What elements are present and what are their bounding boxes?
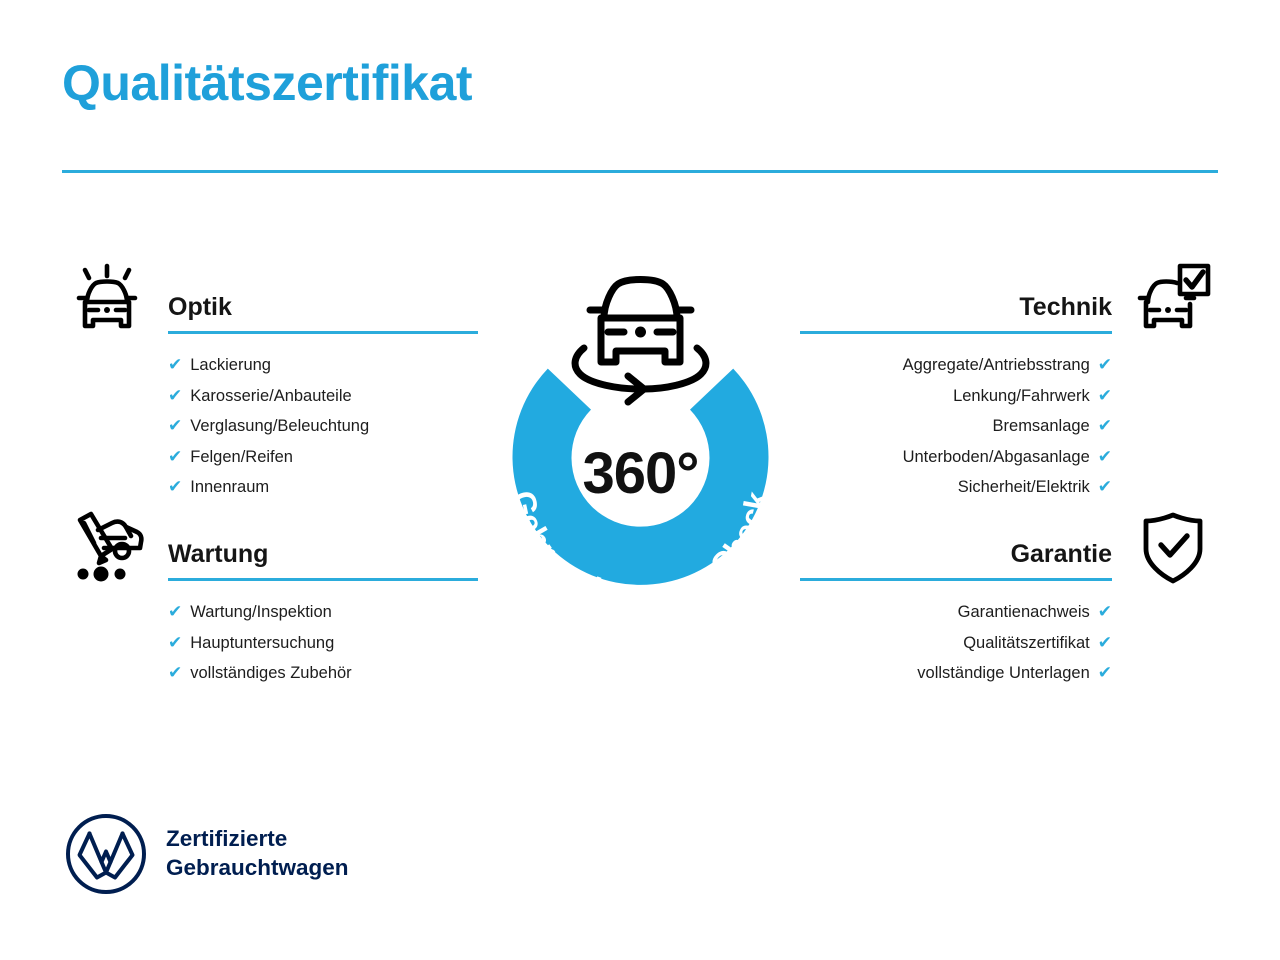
list-item-label: Felgen/Reifen (190, 442, 293, 473)
pencil-car-service-icon (64, 503, 150, 589)
list-item-label: Garantienachweis (958, 597, 1090, 628)
section-garantie-list: Garantienachweis✔ Qualitätszertifikat✔ v… (800, 597, 1220, 689)
car-rotate-360-icon (575, 280, 706, 403)
check-icon: ✔ (168, 356, 182, 373)
check-icon: ✔ (1098, 664, 1112, 681)
section-technik: Technik Aggregate/Antriebsstrang✔ Lenkun… (800, 258, 1220, 503)
check-icon: ✔ (168, 478, 182, 495)
section-technik-underline (800, 331, 1112, 334)
list-item: Bremsanlage✔ (800, 411, 1112, 442)
list-item: Aggregate/Antriebsstrang✔ (800, 350, 1112, 381)
page-title: Qualitätszertifikat (62, 56, 472, 111)
badge-number: 360° (468, 440, 813, 507)
section-wartung-underline (168, 578, 478, 581)
vw-certified-line1: Zertifizierte (166, 825, 349, 854)
list-item: Garantienachweis✔ (800, 597, 1112, 628)
shield-check-icon (1130, 503, 1216, 589)
list-item: ✔Verglasung/Beleuchtung (168, 411, 478, 442)
check-icon: ✔ (1098, 448, 1112, 465)
section-optik: Optik ✔Lackierung ✔Karosserie/Anbauteile… (58, 258, 478, 503)
list-item-label: Aggregate/Antriebsstrang (903, 350, 1090, 381)
section-optik-list: ✔Lackierung ✔Karosserie/Anbauteile ✔Verg… (58, 350, 478, 503)
list-item-label: Qualitätszertifikat (963, 628, 1090, 659)
section-optik-title: Optik (168, 293, 232, 322)
list-item-label: vollständiges Zubehör (190, 658, 351, 689)
list-item-label: vollständige Unterlagen (917, 658, 1089, 689)
check-icon: ✔ (168, 387, 182, 404)
list-item: ✔Karosserie/Anbauteile (168, 381, 478, 412)
section-garantie: Garantie Garantienachweis✔ Qualitätszert… (800, 505, 1220, 689)
check-icon: ✔ (1098, 478, 1112, 495)
list-item-label: Unterboden/Abgasanlage (903, 442, 1090, 473)
list-item-label: Hauptuntersuchung (190, 628, 334, 659)
list-item: ✔Wartung/Inspektion (168, 597, 478, 628)
list-item-label: Sicherheit/Elektrik (958, 472, 1090, 503)
badge-360-gebrauchtwagen-check: Gebrauchtwagen-Check 360° (468, 252, 813, 642)
check-icon: ✔ (168, 448, 182, 465)
check-icon: ✔ (1098, 356, 1112, 373)
car-front-shine-icon (64, 256, 150, 342)
list-item-label: Lenkung/Fahrwerk (953, 381, 1090, 412)
section-wartung: Wartung ✔Wartung/Inspektion ✔Hauptunters… (58, 505, 478, 689)
check-icon: ✔ (168, 417, 182, 434)
section-technik-header: Technik (800, 258, 1220, 350)
section-garantie-title: Garantie (1011, 540, 1112, 569)
list-item-label: Verglasung/Beleuchtung (190, 411, 369, 442)
list-item-label: Innenraum (190, 472, 269, 503)
section-garantie-underline (800, 578, 1112, 581)
check-icon: ✔ (1098, 417, 1112, 434)
list-item: ✔Felgen/Reifen (168, 442, 478, 473)
check-icon: ✔ (168, 634, 182, 651)
vw-certified-label: Zertifizierte Gebrauchtwagen (166, 825, 349, 883)
section-technik-title: Technik (1019, 293, 1112, 322)
list-item-label: Bremsanlage (993, 411, 1090, 442)
check-icon: ✔ (1098, 603, 1112, 620)
list-item: ✔Hauptuntersuchung (168, 628, 478, 659)
section-optik-header: Optik (58, 258, 478, 350)
check-icon: ✔ (168, 664, 182, 681)
list-item: Qualitätszertifikat✔ (800, 628, 1112, 659)
list-item: vollständige Unterlagen✔ (800, 658, 1112, 689)
vw-certified-line2: Gebrauchtwagen (166, 854, 349, 883)
list-item: Lenkung/Fahrwerk✔ (800, 381, 1112, 412)
vw-certified-lockup: Zertifizierte Gebrauchtwagen (64, 812, 349, 896)
list-item: Unterboden/Abgasanlage✔ (800, 442, 1112, 473)
section-garantie-header: Garantie (800, 505, 1220, 597)
vw-roundel-icon (64, 812, 148, 896)
list-item-label: Wartung/Inspektion (190, 597, 332, 628)
section-optik-underline (168, 331, 478, 334)
list-item: ✔Lackierung (168, 350, 478, 381)
list-item: ✔Innenraum (168, 472, 478, 503)
section-wartung-list: ✔Wartung/Inspektion ✔Hauptuntersuchung ✔… (58, 597, 478, 689)
list-item: Sicherheit/Elektrik✔ (800, 472, 1112, 503)
section-wartung-title: Wartung (168, 540, 268, 569)
car-front-checkbox-icon (1130, 256, 1216, 342)
check-icon: ✔ (168, 603, 182, 620)
list-item: ✔vollständiges Zubehör (168, 658, 478, 689)
header-divider (62, 170, 1218, 173)
list-item-label: Lackierung (190, 350, 271, 381)
check-icon: ✔ (1098, 387, 1112, 404)
section-wartung-header: Wartung (58, 505, 478, 597)
check-icon: ✔ (1098, 634, 1112, 651)
list-item-label: Karosserie/Anbauteile (190, 381, 351, 412)
section-technik-list: Aggregate/Antriebsstrang✔ Lenkung/Fahrwe… (800, 350, 1220, 503)
